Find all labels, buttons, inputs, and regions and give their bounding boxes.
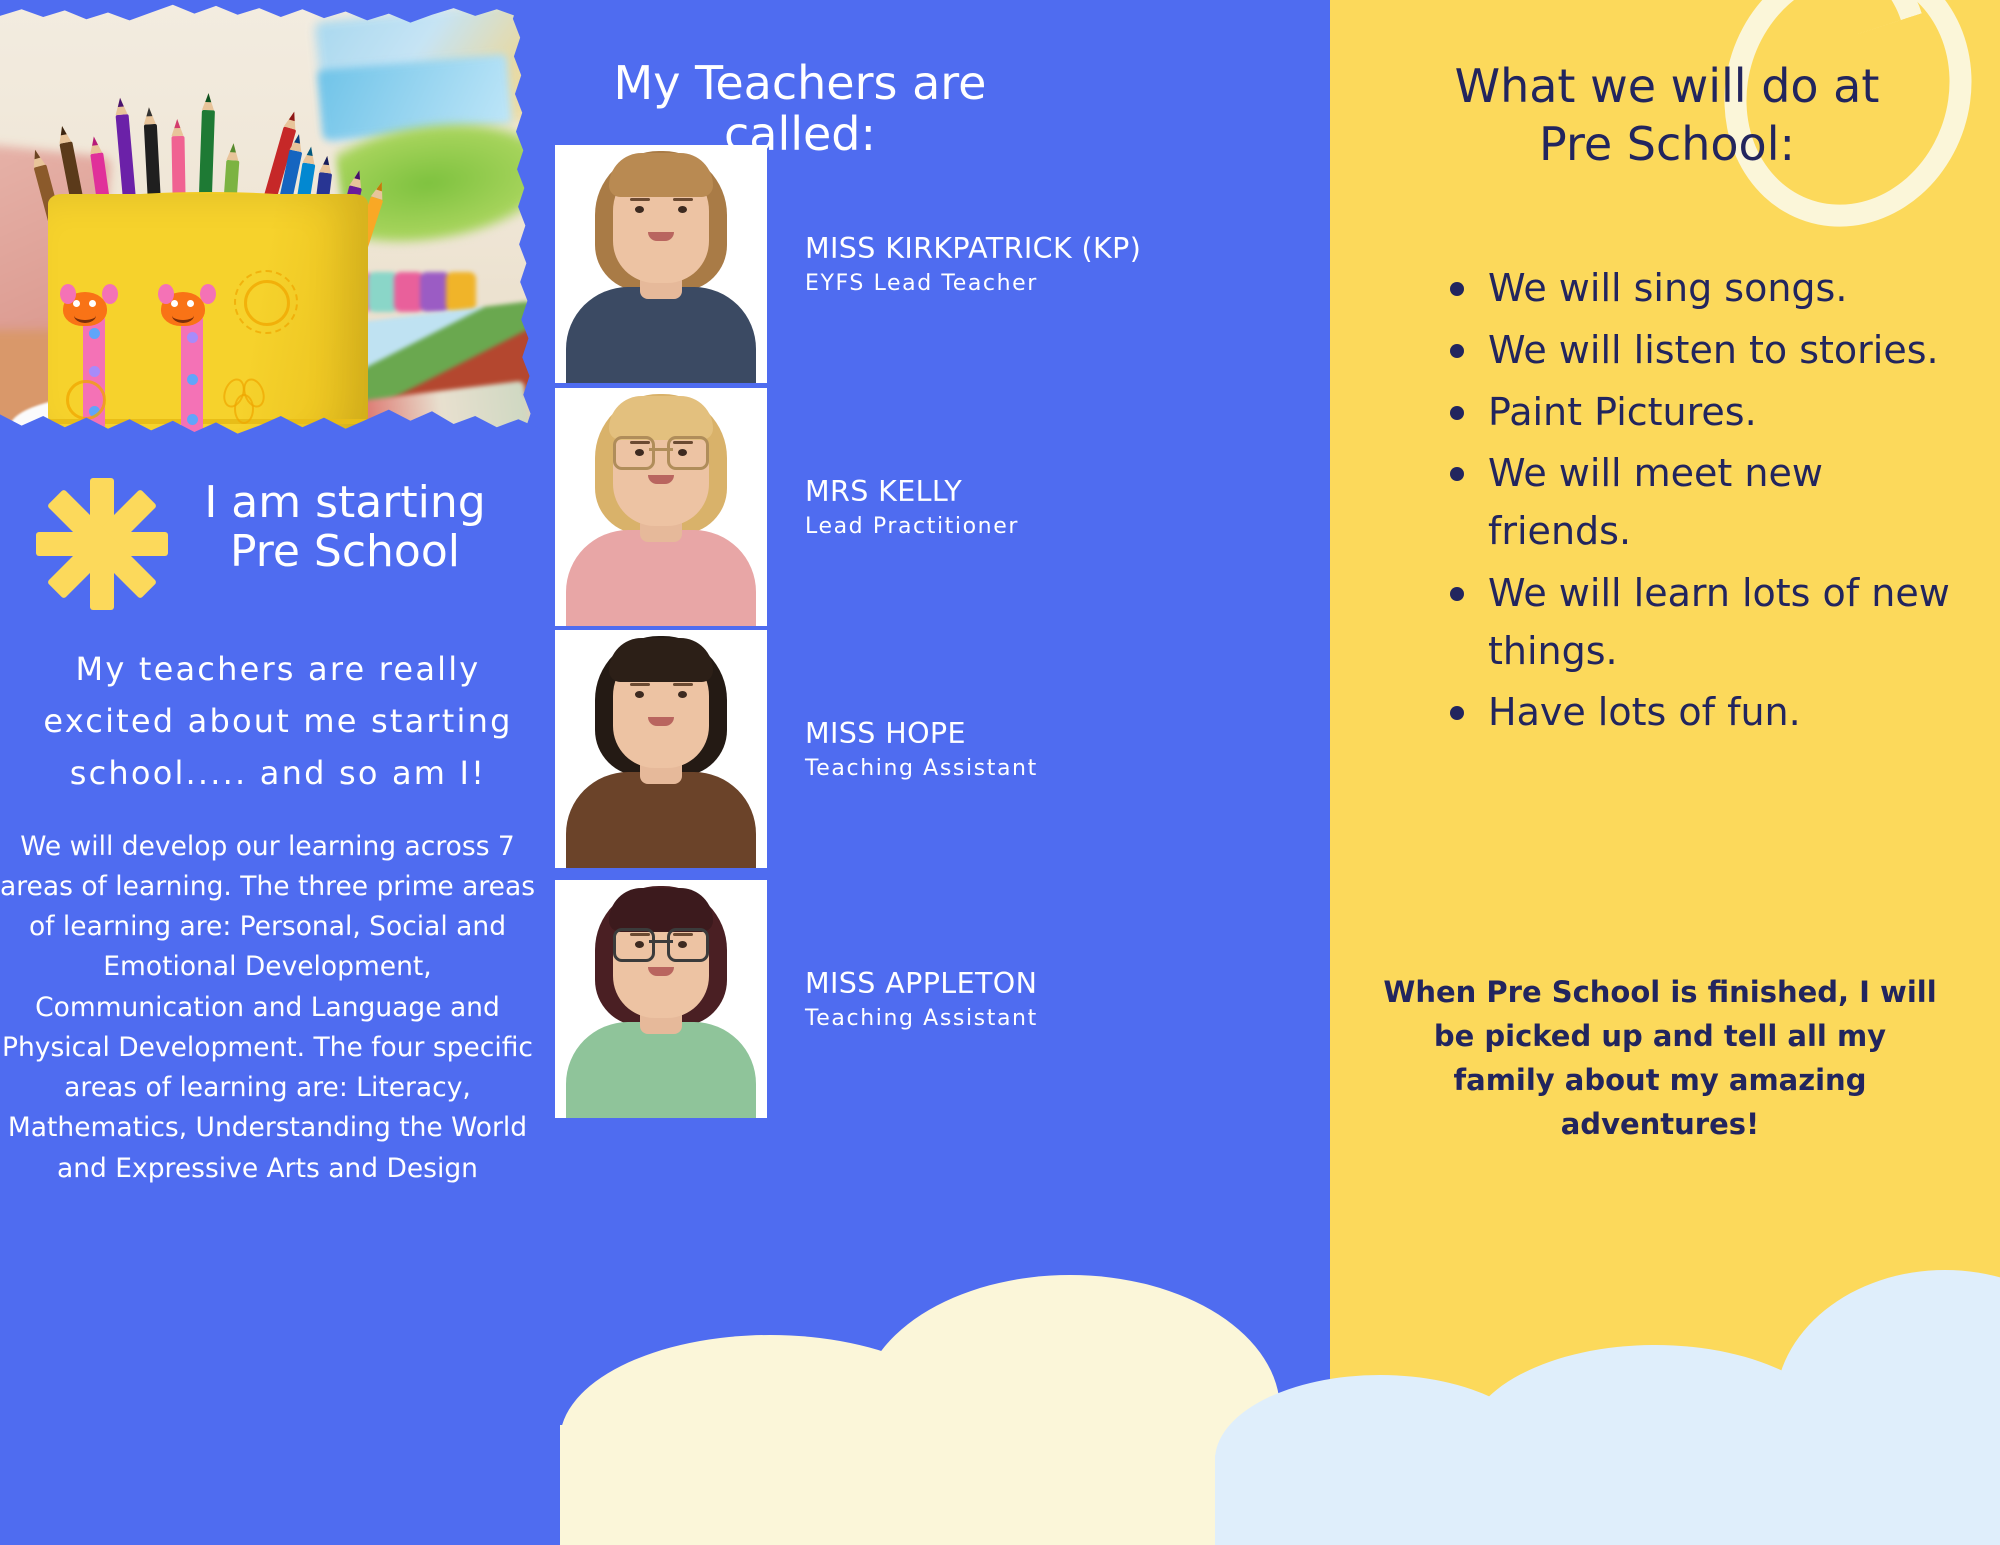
teacher-photo xyxy=(555,145,767,383)
teacher-role: Lead Practitioner xyxy=(805,514,1019,539)
teacher-photo xyxy=(555,630,767,868)
teacher-photo xyxy=(555,388,767,626)
teacher-name: MISS HOPE xyxy=(805,717,1038,750)
teacher-role: Teaching Assistant xyxy=(805,756,1038,781)
teacher-name: MRS KELLY xyxy=(805,475,1019,508)
what-we-will-do-title: What we will do at Pre School: xyxy=(1352,58,1982,173)
heading-line-2: Pre School xyxy=(150,527,540,576)
list-item: We will learn lots of new things. xyxy=(1440,565,1960,681)
pickup-footer-text: When Pre School is finished, I will be p… xyxy=(1380,970,1940,1146)
teacher-row: MRS KELLY Lead Practitioner xyxy=(555,388,1019,626)
yellow-title-line-2: Pre School: xyxy=(1352,116,1982,174)
list-item: We will meet new friends. xyxy=(1440,445,1960,561)
list-item: Have lots of fun. xyxy=(1440,684,1960,742)
teachers-section-title: My Teachers are called: xyxy=(540,58,1060,159)
preschool-welcome-poster: I am starting Pre School My teachers are… xyxy=(0,0,2000,1545)
glasses-icon xyxy=(613,436,709,466)
list-item: Paint Pictures. xyxy=(1440,384,1960,442)
asterisk-icon xyxy=(36,478,168,610)
areas-of-learning-paragraph: We will develop our learning across 7 ar… xyxy=(0,827,535,1189)
intro-paragraph: My teachers are really excited about me … xyxy=(18,644,538,799)
pencil-pot-photo xyxy=(0,0,540,470)
list-item: We will listen to stories. xyxy=(1440,322,1960,380)
heading-line-1: I am starting xyxy=(150,478,540,527)
teacher-name: MISS APPLETON xyxy=(805,967,1038,1000)
teacher-name: MISS KIRKPATRICK (KP) xyxy=(805,232,1141,265)
teacher-row: MISS HOPE Teaching Assistant xyxy=(555,630,1038,868)
blue-cloud-decoration xyxy=(1215,1245,2000,1545)
teacher-role: Teaching Assistant xyxy=(805,1006,1038,1031)
teacher-row: MISS APPLETON Teaching Assistant xyxy=(555,880,1038,1118)
starting-preschool-heading: I am starting Pre School xyxy=(150,478,540,577)
yellow-title-line-1: What we will do at xyxy=(1352,58,1982,116)
teacher-row: MISS KIRKPATRICK (KP) EYFS Lead Teacher xyxy=(555,145,1141,383)
teacher-role: EYFS Lead Teacher xyxy=(805,271,1141,296)
cream-cloud-decoration xyxy=(560,1215,1260,1545)
activities-list: We will sing songs. We will listen to st… xyxy=(1440,260,1960,746)
teacher-photo xyxy=(555,880,767,1118)
glasses-icon xyxy=(613,928,709,958)
list-item: We will sing songs. xyxy=(1440,260,1960,318)
